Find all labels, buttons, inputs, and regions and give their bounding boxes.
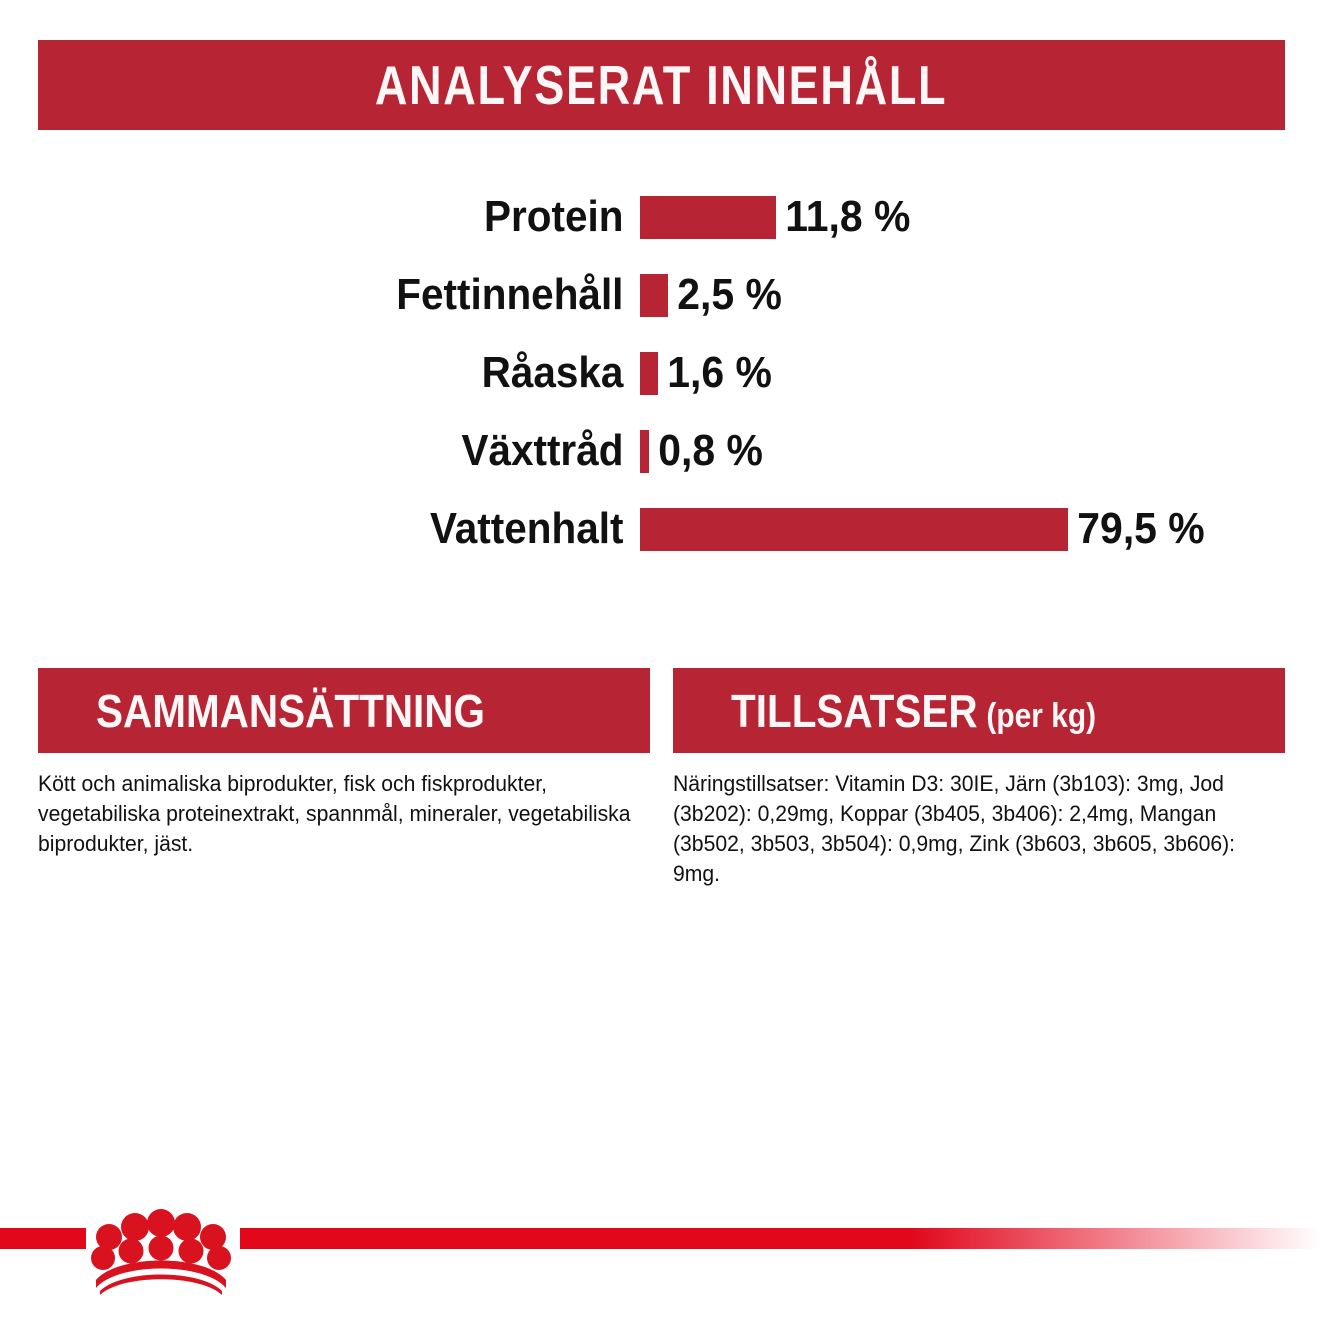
chart-bar-vaxttrad [640,430,649,473]
chart-value-fettinnehall: 2,5 % [668,270,782,320]
chart-label-vattenhalt: Vattenhalt [51,504,640,554]
chart-value-raaska: 1,6 % [658,348,772,398]
page-title: ANALYSERAT INNEHÅLL [375,53,947,117]
composition-section: SAMMANSÄTTNING Kött och animaliska bipro… [38,668,650,859]
additives-title-suffix: (per kg) [986,697,1096,735]
footer-bar-left [0,1228,86,1249]
chart-bar-raaska [640,352,658,395]
additives-title-main: TILLSATSER [731,685,978,737]
chart-row-fettinnehall: Fettinnehåll 2,5 % [0,256,1320,334]
chart-label-protein: Protein [51,192,640,242]
chart-bar-fettinnehall [640,274,668,317]
additives-body: Näringstillsatser: Vitamin D3: 30IE, Jär… [673,769,1283,889]
chart-row-raaska: Råaska 1,6 % [0,334,1320,412]
chart-bar-protein [640,196,776,239]
chart-bar-vattenhalt [640,508,1068,551]
footer-bar-right [240,1228,1320,1249]
chart-row-protein: Protein 11,8 % [0,178,1320,256]
chart-label-fettinnehall: Fettinnehåll [51,270,640,320]
chart-value-protein: 11,8 % [776,192,910,242]
chart-value-vaxttrad: 0,8 % [649,426,763,476]
chart-row-vaxttrad: Växttråd 0,8 % [0,412,1320,490]
composition-banner: SAMMANSÄTTNING [38,668,650,753]
chart-row-vattenhalt: Vattenhalt 79,5 % [0,490,1320,568]
additives-banner: TILLSATSER(per kg) [673,668,1285,753]
analysed-content-chart: Protein 11,8 % Fettinnehåll 2,5 % Råaska… [0,178,1320,568]
composition-body: Kött och animaliska biprodukter, fisk oc… [38,769,648,859]
additives-title: TILLSATSER(per kg) [731,684,1096,738]
additives-section: TILLSATSER(per kg) Näringstillsatser: Vi… [673,668,1285,889]
chart-label-vaxttrad: Växttråd [51,426,640,476]
analysed-content-banner: ANALYSERAT INNEHÅLL [38,40,1285,130]
royal-canin-crown-logo [86,1196,236,1296]
footer [0,1222,1320,1252]
chart-value-vattenhalt: 79,5 % [1068,504,1205,554]
composition-title: SAMMANSÄTTNING [96,684,485,738]
chart-label-raaska: Råaska [51,348,640,398]
